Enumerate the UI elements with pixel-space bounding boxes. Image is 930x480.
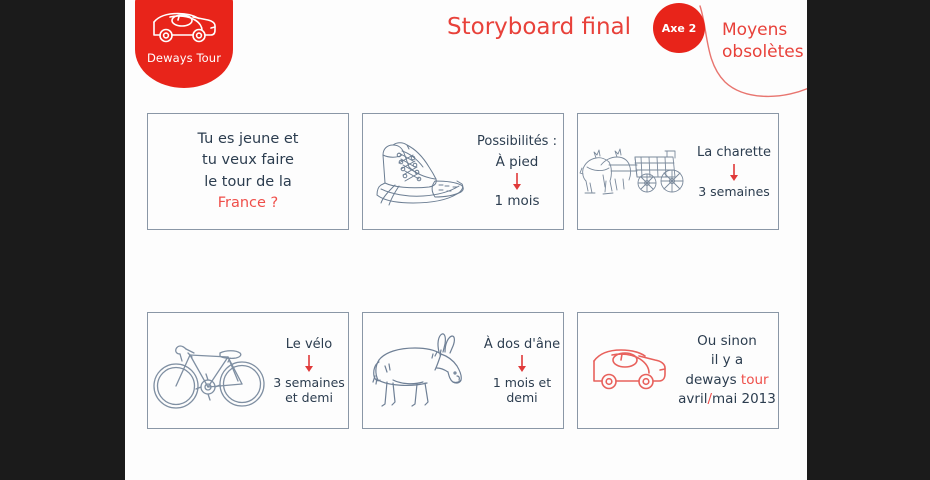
storyboard-panel-deways[interactable]: Ou sinon il y a deways tour avril/mai 20… xyxy=(577,312,779,429)
axe-badge-label: Axe 2 xyxy=(662,22,697,35)
storyboard-panel-charette[interactable]: La charette 3 semaines xyxy=(577,113,779,230)
velo-label: Le vélo xyxy=(270,336,348,353)
red-car-icon xyxy=(587,343,673,399)
charette-label: La charette xyxy=(690,144,778,161)
deways-line-3: deways tour xyxy=(676,371,778,390)
screenshot-viewport: Deways Tour Storyboard final Axe 2 Moyen… xyxy=(0,0,930,480)
date-month-2: mai 2013 xyxy=(712,391,776,407)
panel-velo-copy: Le vélo 3 semaines et demi xyxy=(270,336,348,405)
slide-subtitle: Moyens obsolètes xyxy=(722,19,807,63)
deways-word: deways xyxy=(685,372,741,388)
storyboard-panel-intro[interactable]: Tu es jeune et tu veux faire le tour de … xyxy=(147,113,349,230)
logo-text: Deways Tour xyxy=(147,51,221,65)
intro-line-2: tu veux faire xyxy=(197,150,298,171)
tour-word: tour xyxy=(741,372,769,388)
deways-line-4: avril/mai 2013 xyxy=(676,390,778,409)
velo-duration-2: et demi xyxy=(270,390,348,405)
arrow-down-icon xyxy=(727,163,741,183)
deways-line-1: Ou sinon xyxy=(676,332,778,351)
subtitle-line-2: obsolètes xyxy=(722,41,807,63)
panel-intro-copy: Tu es jeune et tu veux faire le tour de … xyxy=(197,129,298,213)
possibilities-heading: Possibilités : xyxy=(471,133,563,150)
bicycle-icon xyxy=(150,329,268,413)
donkey-icon xyxy=(365,326,479,416)
ane-label: À dos d'âne xyxy=(481,336,563,353)
a-pied-duration: 1 mois xyxy=(471,193,563,209)
storyboard-panel-ane[interactable]: À dos d'âne 1 mois et demi xyxy=(362,312,564,429)
panel-charette-copy: La charette 3 semaines xyxy=(690,144,778,198)
deways-line-2: il y a xyxy=(676,351,778,370)
storyboard-grid: Tu es jeune et tu veux faire le tour de … xyxy=(147,113,787,429)
presentation-slide: Deways Tour Storyboard final Axe 2 Moyen… xyxy=(125,0,807,480)
page-title: Storyboard final xyxy=(447,14,631,40)
arrow-down-icon xyxy=(302,354,316,374)
storyboard-panel-a-pied[interactable]: Possibilités : À pied 1 mois xyxy=(362,113,564,230)
deways-tour-logo: Deways Tour xyxy=(135,0,233,88)
axe-badge: Axe 2 xyxy=(653,3,705,53)
bicycle-art xyxy=(148,329,270,413)
panel-a-pied-copy: Possibilités : À pied 1 mois xyxy=(471,133,563,209)
arrow-down-icon xyxy=(515,354,529,374)
panel-ane-copy: À dos d'âne 1 mois et demi xyxy=(481,336,563,405)
intro-line-accent: France ? xyxy=(197,193,298,214)
storyboard-panel-velo[interactable]: Le vélo 3 semaines et demi xyxy=(147,312,349,429)
horse-cart-art xyxy=(578,135,690,209)
a-pied-label: À pied xyxy=(471,154,563,172)
car-icon xyxy=(148,8,220,48)
red-car-art xyxy=(584,343,676,399)
sneaker-art xyxy=(367,129,471,215)
panel-deways-copy: Ou sinon il y a deways tour avril/mai 20… xyxy=(676,332,778,409)
intro-line-3: le tour de la xyxy=(197,172,298,193)
deways-copy-block: Ou sinon il y a deways tour avril/mai 20… xyxy=(676,332,778,409)
ane-duration: 1 mois et demi xyxy=(481,375,563,405)
velo-duration: 3 semaines xyxy=(270,375,348,390)
intro-line-1: Tu es jeune et xyxy=(197,129,298,150)
arrow-down-icon xyxy=(510,172,524,192)
horse-cart-icon xyxy=(579,135,689,209)
donkey-art xyxy=(363,326,481,416)
date-month-1: avril xyxy=(678,391,707,407)
charette-duration: 3 semaines xyxy=(690,184,778,199)
sneaker-icon xyxy=(369,129,469,215)
subtitle-line-1: Moyens xyxy=(722,19,807,41)
